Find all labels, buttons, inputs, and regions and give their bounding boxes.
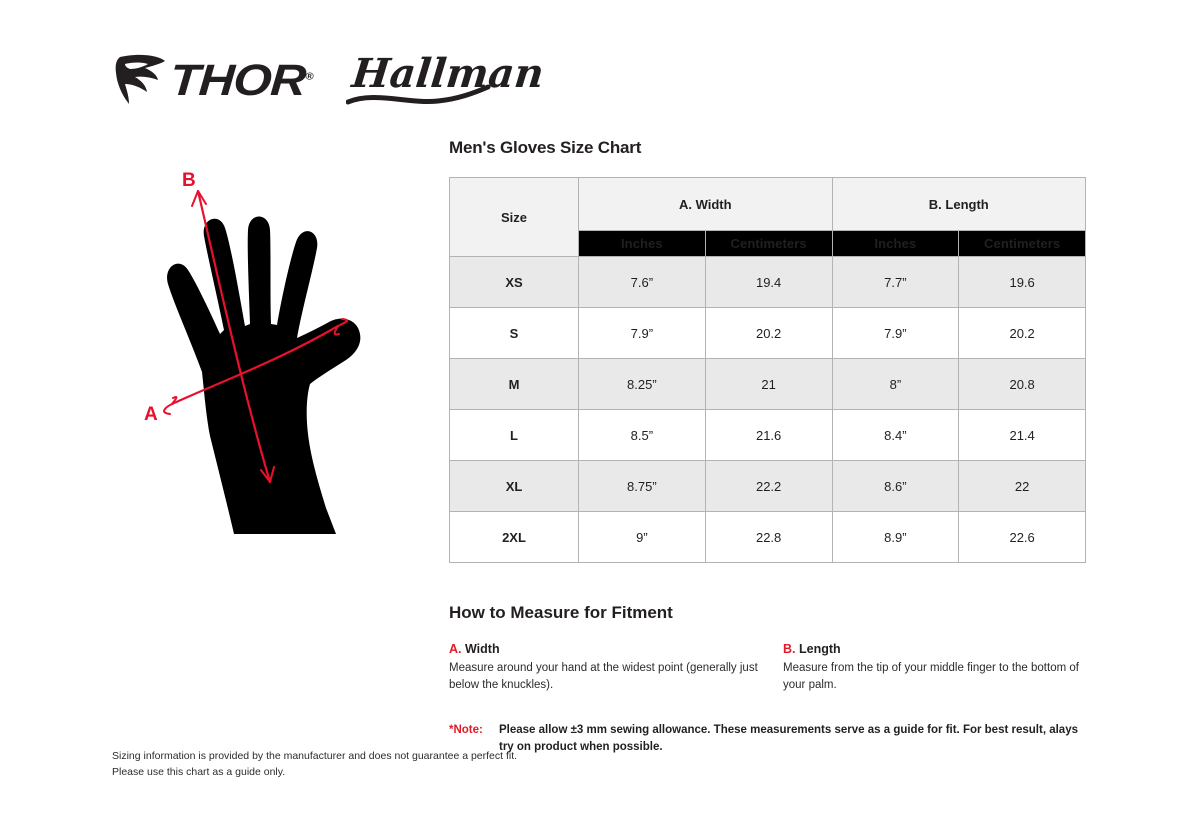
- table-header-group-row: Size A. Width B. Length: [450, 178, 1086, 230]
- how-to-measure-grid: A. Width Measure around your hand at the…: [449, 641, 1089, 694]
- row-length-centimeters: 19.6: [959, 257, 1086, 308]
- hand-label-a: A: [144, 404, 158, 425]
- row-width-centimeters: 22.8: [705, 512, 832, 563]
- header-width-centimeters: Centimeters: [705, 230, 832, 257]
- row-width-centimeters: 20.2: [705, 308, 832, 359]
- how-to-measure-title: How to Measure for Fitment: [449, 603, 1089, 623]
- row-length-inches: 8.4”: [832, 410, 959, 461]
- hand-diagram-svg: B A: [130, 168, 430, 548]
- header-length-inches: Inches: [832, 230, 959, 257]
- measure-width-marker: A.: [449, 642, 462, 656]
- hallman-logo: Hallman: [350, 52, 490, 108]
- hand-silhouette-icon: [167, 217, 360, 535]
- size-chart-tbody: XS7.6”19.47.7”19.6S7.9”20.27.9”20.2M8.25…: [450, 257, 1086, 563]
- row-width-inches: 7.6”: [579, 257, 706, 308]
- measure-length-heading: B. Length: [783, 641, 1089, 657]
- row-width-inches: 9”: [579, 512, 706, 563]
- thor-wordmark-text: THOR: [168, 56, 307, 105]
- row-width-inches: 8.5”: [579, 410, 706, 461]
- row-length-inches: 7.9”: [832, 308, 959, 359]
- header-group-length: B. Length: [832, 178, 1086, 230]
- row-length-centimeters: 22.6: [959, 512, 1086, 563]
- row-width-centimeters: 21: [705, 359, 832, 410]
- row-width-centimeters: 21.6: [705, 410, 832, 461]
- row-width-inches: 8.25”: [579, 359, 706, 410]
- row-width-centimeters: 19.4: [705, 257, 832, 308]
- measure-width-text: Measure around your hand at the widest p…: [449, 660, 783, 693]
- note-text: Please allow ±3 mm sewing allowance. The…: [499, 722, 1084, 755]
- row-length-centimeters: 20.8: [959, 359, 1086, 410]
- row-size: L: [450, 410, 579, 461]
- row-width-inches: 7.9”: [579, 308, 706, 359]
- table-row: XL8.75”22.28.6”22: [450, 461, 1086, 512]
- measure-width-name: Width: [465, 642, 500, 656]
- hand-measurement-diagram: B A: [130, 168, 430, 548]
- hand-label-b: B: [182, 170, 196, 191]
- page-title: Men's Gloves Size Chart: [449, 138, 1089, 158]
- row-size: XS: [450, 257, 579, 308]
- size-chart-content: Men's Gloves Size Chart Size A. Width B.…: [449, 138, 1089, 756]
- footer-line-1: Sizing information is provided by the ma…: [112, 748, 517, 764]
- row-size: XL: [450, 461, 579, 512]
- header-size: Size: [450, 178, 579, 257]
- footer-line-2: Please use this chart as a guide only.: [112, 764, 517, 780]
- table-row: 2XL9”22.88.9”22.6: [450, 512, 1086, 563]
- table-row: S7.9”20.27.9”20.2: [450, 308, 1086, 359]
- row-length-centimeters: 20.2: [959, 308, 1086, 359]
- width-arrow-head-left: [164, 397, 176, 414]
- header-group-width: A. Width: [579, 178, 833, 230]
- row-size: 2XL: [450, 512, 579, 563]
- size-chart-thead: Size A. Width B. Length Inches Centimete…: [450, 178, 1086, 257]
- row-width-centimeters: 22.2: [705, 461, 832, 512]
- row-length-centimeters: 21.4: [959, 410, 1086, 461]
- thor-helmet-icon: [112, 51, 168, 109]
- row-width-inches: 8.75”: [579, 461, 706, 512]
- table-row: XS7.6”19.47.7”19.6: [450, 257, 1086, 308]
- row-length-centimeters: 22: [959, 461, 1086, 512]
- header-width-inches: Inches: [579, 230, 706, 257]
- table-row: M8.25”218”20.8: [450, 359, 1086, 410]
- row-length-inches: 7.7”: [832, 257, 959, 308]
- measure-length-block: B. Length Measure from the tip of your m…: [783, 641, 1089, 694]
- row-size: M: [450, 359, 579, 410]
- measure-width-heading: A. Width: [449, 641, 783, 657]
- thor-wordmark: THOR®: [168, 59, 314, 103]
- table-row: L8.5”21.68.4”21.4: [450, 410, 1086, 461]
- row-size: S: [450, 308, 579, 359]
- row-length-inches: 8”: [832, 359, 959, 410]
- hallman-swash-icon: [346, 82, 496, 108]
- note-row: *Note: Please allow ±3 mm sewing allowan…: [449, 722, 1089, 755]
- footer-disclaimer: Sizing information is provided by the ma…: [112, 748, 517, 781]
- header-length-centimeters: Centimeters: [959, 230, 1086, 257]
- measure-width-block: A. Width Measure around your hand at the…: [449, 641, 783, 694]
- measure-length-marker: B.: [783, 642, 796, 656]
- measure-length-name: Length: [799, 642, 841, 656]
- row-length-inches: 8.6”: [832, 461, 959, 512]
- size-chart-table: Size A. Width B. Length Inches Centimete…: [449, 177, 1086, 563]
- thor-logo: THOR®: [112, 51, 298, 109]
- thor-registered-mark: ®: [305, 71, 314, 82]
- brand-logo-bar: THOR® Hallman: [112, 48, 490, 112]
- measure-length-text: Measure from the tip of your middle fing…: [783, 660, 1089, 693]
- row-length-inches: 8.9”: [832, 512, 959, 563]
